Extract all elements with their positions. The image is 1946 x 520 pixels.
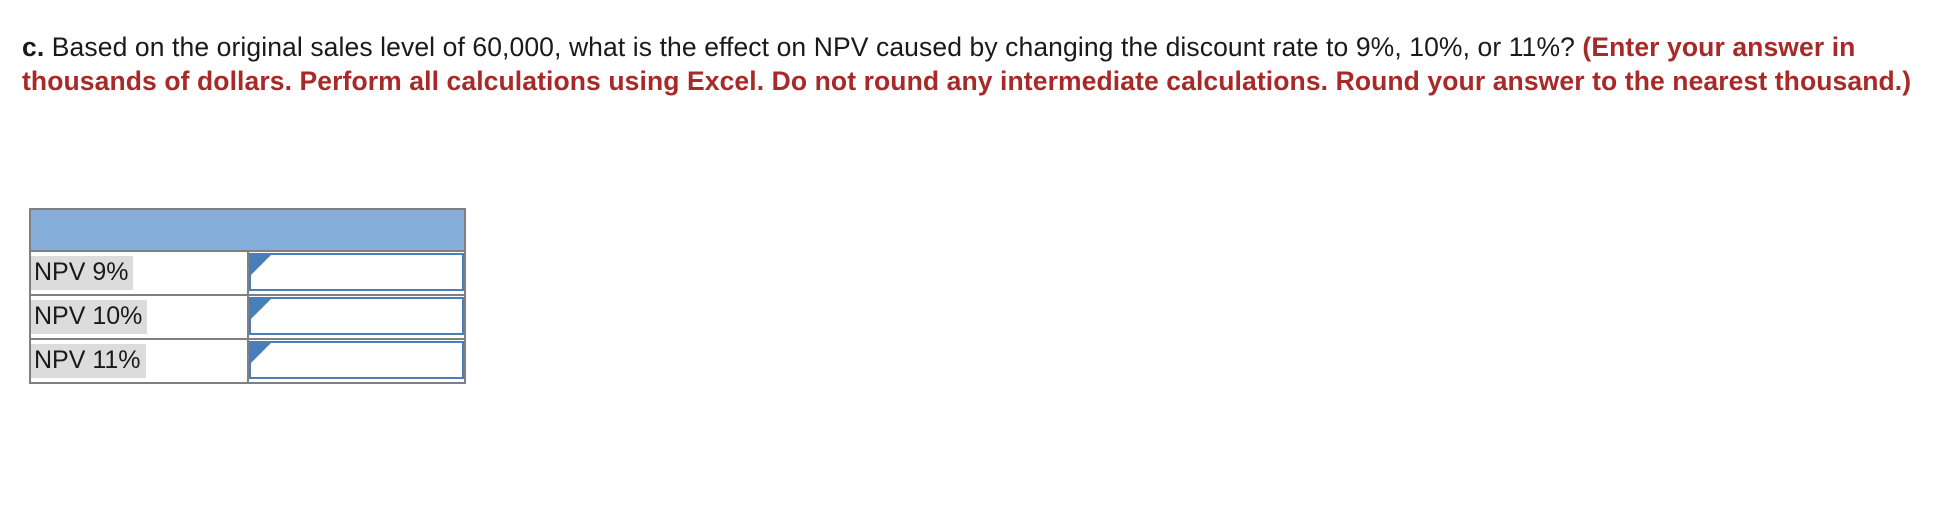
table-header-cell [30,209,465,251]
question-prompt: c. Based on the original sales level of … [22,30,1922,98]
row-input-cell-npv-9[interactable] [248,251,466,295]
row-label-cell-npv-11: NPV 11% [30,339,248,383]
answer-input-npv-9[interactable] [249,253,465,291]
table-header-row [30,209,465,251]
npv-answer-table: NPV 9% NPV 10% NPV 11% [29,208,466,384]
row-label-npv-10: NPV 10% [31,300,147,334]
table-row: NPV 11% [30,339,465,383]
row-label-npv-11: NPV 11% [31,344,146,378]
row-input-cell-npv-10[interactable] [248,295,466,339]
row-label-cell-npv-10: NPV 10% [30,295,248,339]
row-label-cell-npv-9: NPV 9% [30,251,248,295]
question-body-text: Based on the original sales level of 60,… [44,32,1582,62]
input-wrapper-npv-9 [249,253,465,295]
input-wrapper-npv-10 [249,297,465,339]
row-input-cell-npv-11[interactable] [248,339,466,383]
table-row: NPV 10% [30,295,465,339]
input-wrapper-npv-11 [249,341,465,383]
row-label-npv-9: NPV 9% [31,256,133,290]
question-part-label: c. [22,32,44,62]
table-row: NPV 9% [30,251,465,295]
answer-input-npv-10[interactable] [249,297,465,335]
answer-input-npv-11[interactable] [249,341,465,379]
